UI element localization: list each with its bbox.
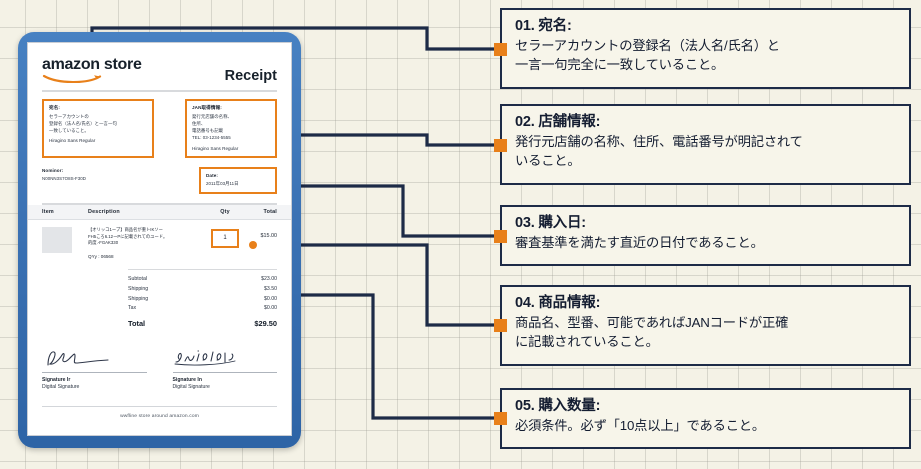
description-line: 【オリッコ1ーブ】商品名が重トIKソー xyxy=(88,227,203,234)
signature-rule xyxy=(42,372,147,373)
signature-block: Signature Ir Digital Signature xyxy=(42,348,147,390)
totals-block: Subtotal $23.00 Shipping $3.50 Shipping … xyxy=(28,270,291,328)
table-row: 【オリッコ1ーブ】商品名が重トIKソー FH5ころ6.12ーPに記載されてのユー… xyxy=(28,220,291,260)
callout-04-marker xyxy=(494,319,507,332)
column-header-qty: Qty xyxy=(207,209,243,215)
callout-01-body-line: 一言一句完全に一致していること。 xyxy=(515,56,897,74)
footer-divider xyxy=(42,406,277,407)
signature-block: Signature In Digital Signature xyxy=(173,348,278,390)
description-qty-note: QYy : 06568 xyxy=(88,254,203,259)
column-header-item: Item xyxy=(42,209,88,215)
brand-name: amazon store xyxy=(42,57,142,73)
total-line-value: $0.00 xyxy=(264,295,277,305)
addressee-highlight-box: 宛名: セラーアカウントの 登録名（法人名/氏名）と一言一句 一致していること。… xyxy=(42,99,154,158)
product-thumbnail-icon xyxy=(42,227,72,253)
callout-05: 05. 購入数量: 必須条件。必ず「10点以上」であること。 xyxy=(500,388,911,449)
addressee-line: セラーアカウントの xyxy=(49,113,147,120)
qty-highlight-box: 1 xyxy=(211,229,239,248)
callout-02-body-line: いること。 xyxy=(515,152,897,170)
callout-01-title: 01. 宛名: xyxy=(515,17,897,36)
cell-item xyxy=(42,227,88,253)
callout-03-marker xyxy=(494,230,507,243)
receipt-footer-text: wwfline store around amazon.com xyxy=(28,414,291,419)
cell-description: 【オリッコ1ーブ】商品名が重トIKソー FH5ころ6.12ーPに記載されてのユー… xyxy=(88,227,207,260)
signatures-row: Signature Ir Digital Signature Signature… xyxy=(28,328,291,390)
callout-04: 04. 商品情報: 商品名、型番、可能であればJANコードが正確 に記載されてい… xyxy=(500,285,911,366)
meta-row: Nominor: N00NN3S7O8S-F30D Date: 2011年03月… xyxy=(28,158,291,194)
callout-02: 02. 店舗情報: 発行元店舗の名称、住所、電話番号が明記されて いること。 xyxy=(500,104,911,185)
store-info-phone: TEL: 03-1234-5555 xyxy=(192,134,270,141)
store-info-line: 住所、 xyxy=(192,120,270,127)
callout-02-body-line: 発行元店舗の名称、住所、電話番号が明記されて xyxy=(515,133,897,151)
tablet-frame: amazon store Receipt 宛名: セラーアカウントの 登録名（法… xyxy=(18,32,301,448)
amazon-smile-icon xyxy=(42,74,104,83)
cell-qty: 1 xyxy=(207,227,243,248)
purchase-date-highlight-box: Date: 2011年03月11日 xyxy=(199,167,277,194)
store-info-line: 電話番号も記載 xyxy=(192,127,270,134)
line-items-table-header: Item Description Qty Total xyxy=(28,205,291,220)
brand-logo: amazon store xyxy=(42,57,142,83)
signature-sublabel: Digital Signature xyxy=(42,384,147,390)
receipt-title: Receipt xyxy=(225,69,277,84)
store-info-highlight-box: JAN取得情報: 発行元店舗の名称、 住所、 電話番号も記載 TEL: 03-1… xyxy=(185,99,277,158)
store-info-line: 発行元店舗の名称、 xyxy=(192,113,270,120)
total-line: Shipping $3.50 xyxy=(128,285,277,295)
callout-04-body-line: に記載されていること。 xyxy=(515,333,897,351)
connector-03 xyxy=(270,186,500,236)
callout-01: 01. 宛名: セラーアカウントの登録名（法人名/氏名）と 一言一句完全に一致し… xyxy=(500,8,911,89)
addressee-line: 一致していること。 xyxy=(49,127,147,134)
callout-02-marker xyxy=(494,139,507,152)
signature-rule xyxy=(173,372,278,373)
callout-05-body-line: 必須条件。必ず「10点以上」であること。 xyxy=(515,417,897,435)
store-info-label: JAN取得情報: xyxy=(192,105,270,111)
grand-total-value: $29.50 xyxy=(254,319,277,328)
column-header-description: Description xyxy=(88,209,207,215)
purchase-date-value: 2011年03月11日 xyxy=(206,180,270,187)
receipt-header: amazon store Receipt xyxy=(28,43,291,83)
slide-canvas: amazon store Receipt 宛名: セラーアカウントの 登録名（法… xyxy=(0,0,921,469)
description-line: 的度.-FGAK330 xyxy=(88,240,203,247)
signature-label: Signature Ir xyxy=(42,377,147,383)
cell-total: $15.00 xyxy=(243,227,277,239)
store-info-font-note: Hiragino Sans Regular xyxy=(192,146,270,151)
receipt-document: amazon store Receipt 宛名: セラーアカウントの 登録名（法… xyxy=(27,42,292,436)
grand-total-label: Total xyxy=(128,319,145,328)
total-line: Subtotal $23.00 xyxy=(128,275,277,285)
total-anchor-dot xyxy=(249,241,257,249)
addressee-label: 宛名: xyxy=(49,105,147,111)
callout-04-body-line: 商品名、型番、可能であればJANコードが正確 xyxy=(515,314,897,332)
receipt-number-block: Nominor: N00NN3S7O8S-F30D xyxy=(42,167,86,182)
connector-02 xyxy=(276,135,500,145)
total-line-label: Subtotal xyxy=(128,275,147,285)
callout-01-body-line: セラーアカウントの登録名（法人名/氏名）と xyxy=(515,37,897,55)
total-line-value: $3.50 xyxy=(264,285,277,295)
callout-05-title: 05. 購入数量: xyxy=(515,397,897,416)
grand-total-row: Total $29.50 xyxy=(128,319,277,328)
parties-row: 宛名: セラーアカウントの 登録名（法人名/氏名）と一言一句 一致していること。… xyxy=(28,92,291,158)
callout-01-marker xyxy=(494,43,507,56)
receipt-number-label: Nominor: xyxy=(42,168,86,173)
total-line-label: Shipping xyxy=(128,285,148,295)
signature-sublabel: Digital Signature xyxy=(173,384,278,390)
addressee-line: 登録名（法人名/氏名）と一言一句 xyxy=(49,120,147,127)
callout-03-title: 03. 購入日: xyxy=(515,214,897,233)
callout-04-title: 04. 商品情報: xyxy=(515,294,897,313)
digital-signature-script-icon xyxy=(173,348,278,370)
callout-03-body-line: 審査基準を満たす直近の日付であること。 xyxy=(515,234,897,252)
total-line-value: $0.00 xyxy=(264,304,277,314)
column-header-total: Total xyxy=(243,209,277,215)
signature-label: Signature In xyxy=(173,377,278,383)
total-line: Tax $0.00 xyxy=(128,304,277,314)
callout-05-marker xyxy=(494,412,507,425)
callout-03: 03. 購入日: 審査基準を満たす直近の日付であること。 xyxy=(500,205,911,266)
callout-02-title: 02. 店舗情報: xyxy=(515,113,897,132)
handwritten-signature-icon xyxy=(42,348,147,370)
total-line-label: Tax xyxy=(128,304,136,314)
addressee-font-note: Hiragino Sans Regular xyxy=(49,138,147,143)
total-line-value: $23.00 xyxy=(261,275,277,285)
total-line-label: Shipping xyxy=(128,295,148,305)
total-line: Shipping $0.00 xyxy=(128,295,277,305)
receipt-number-value: N00NN3S7O8S-F30D xyxy=(42,175,86,182)
purchase-date-label: Date: xyxy=(206,173,270,178)
